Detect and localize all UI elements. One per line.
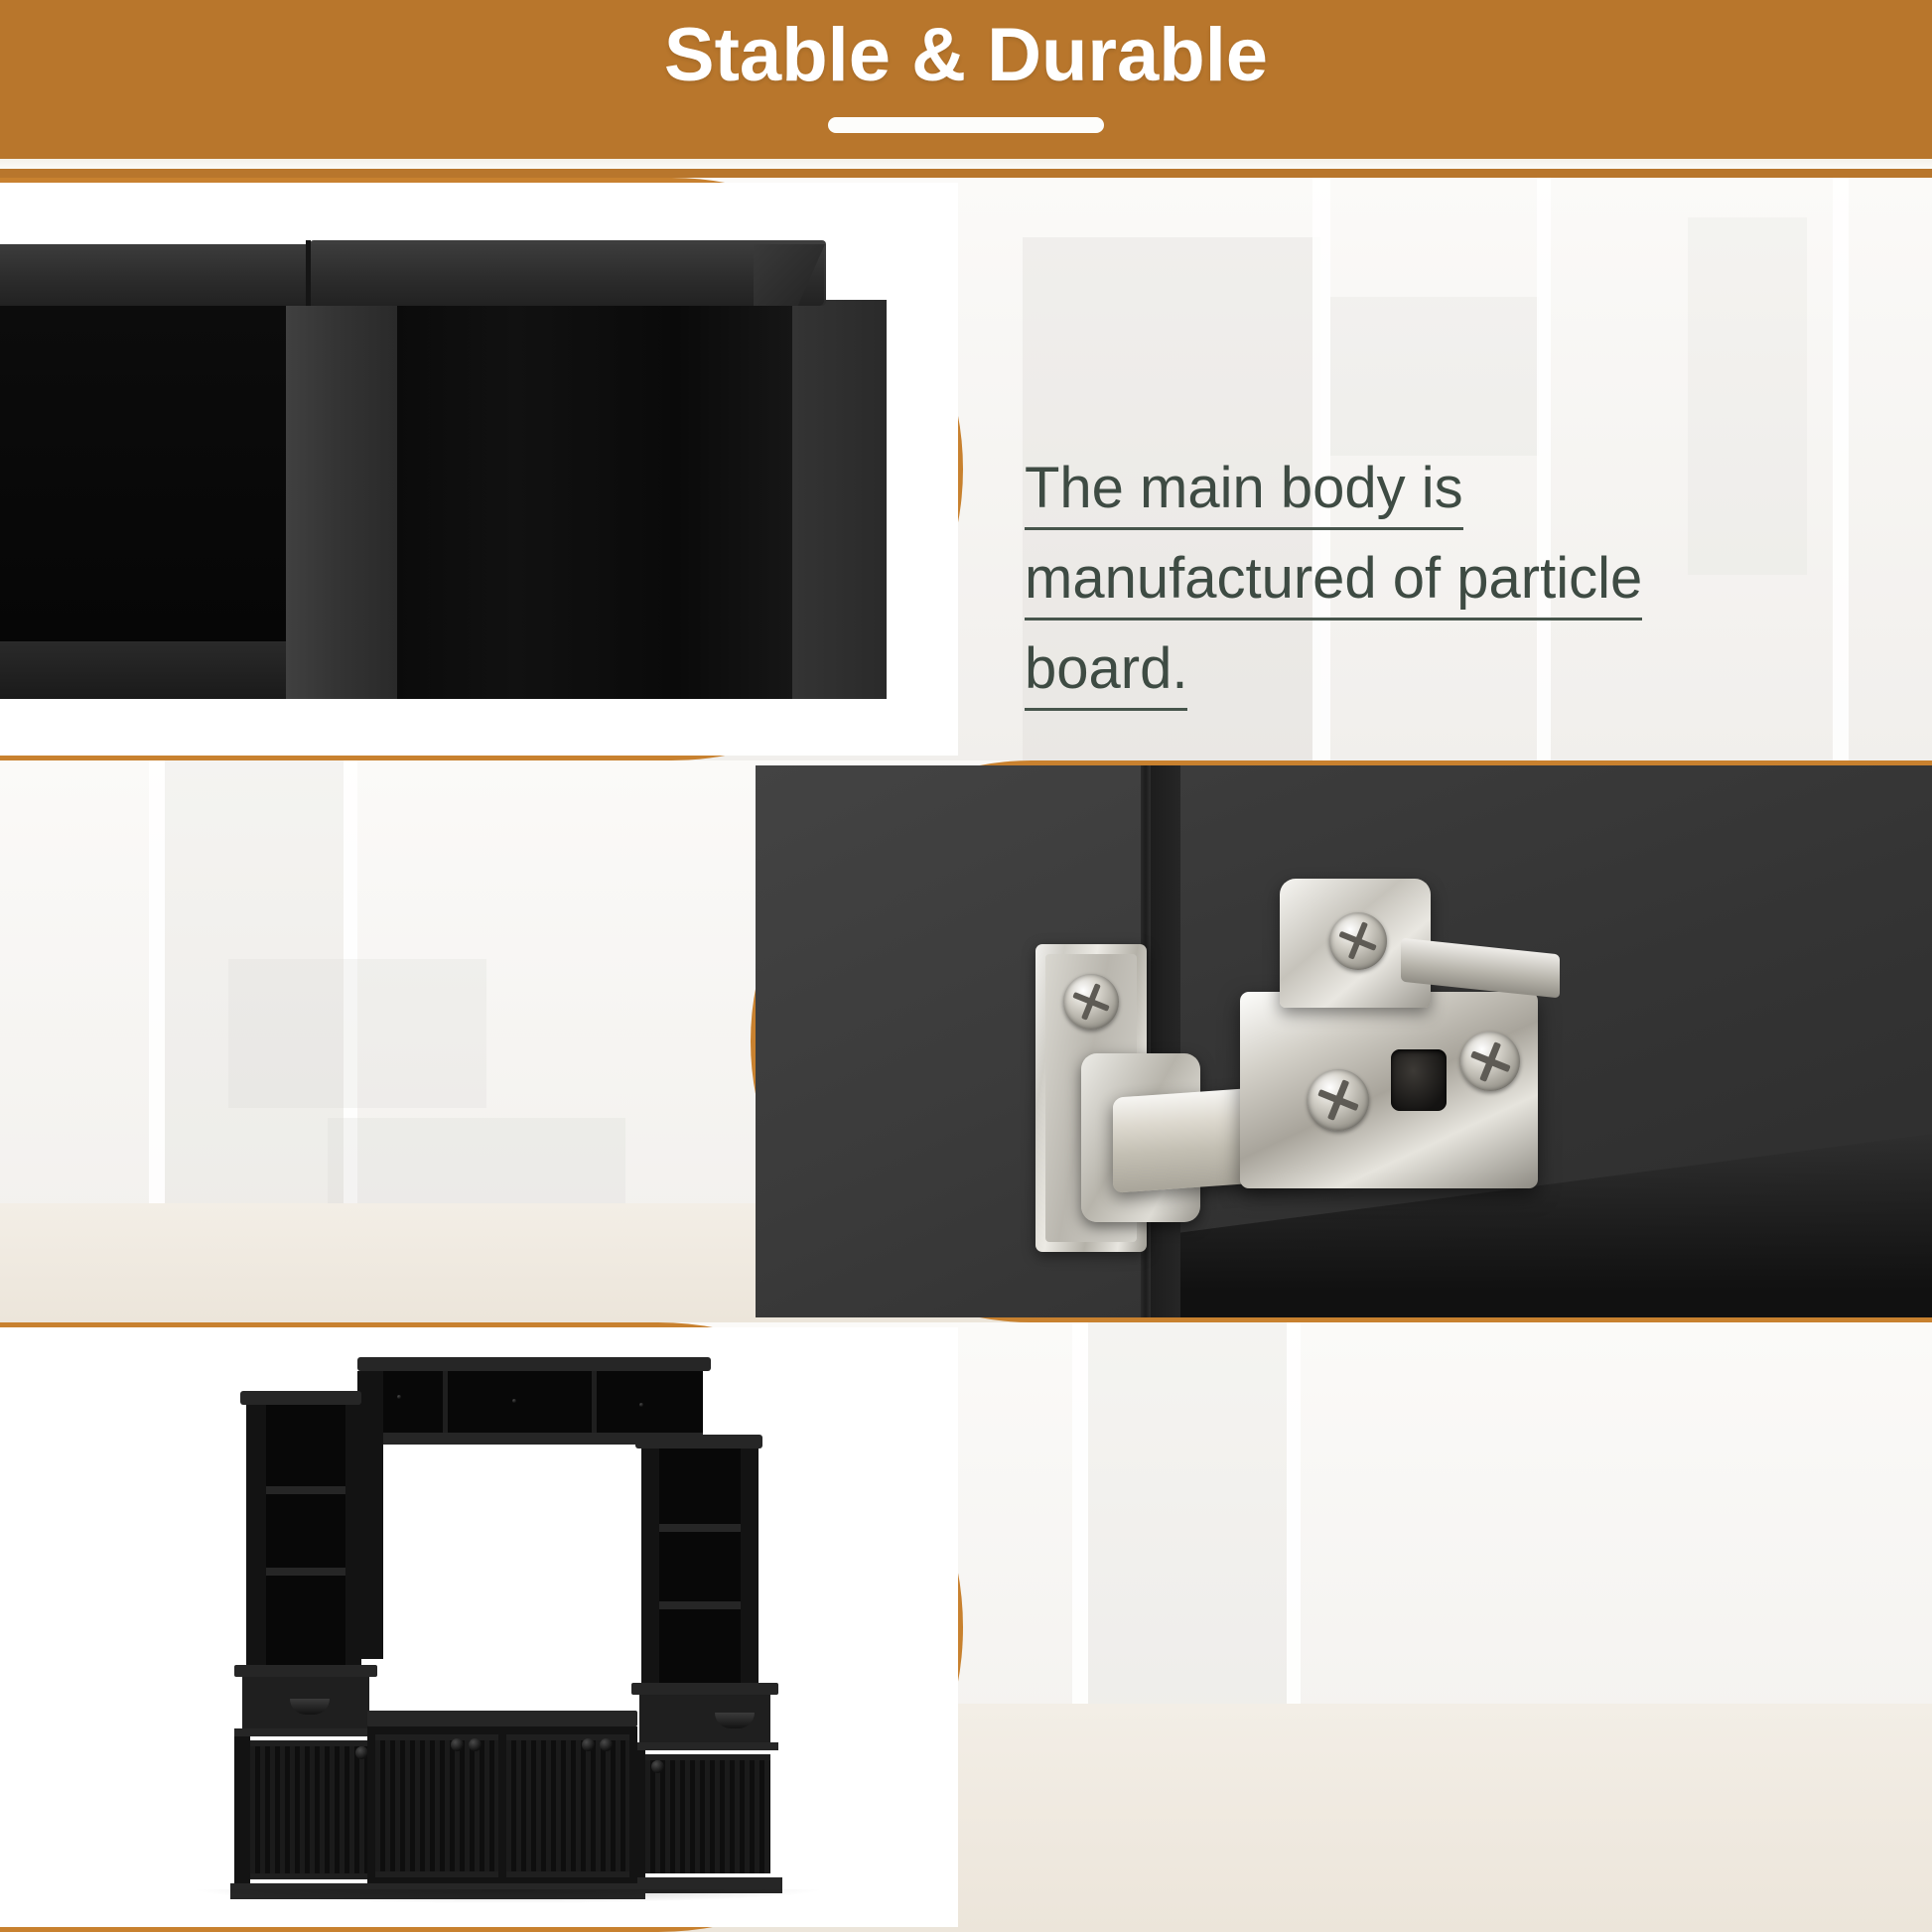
header-divider-line bbox=[0, 169, 1932, 178]
feature-panel-3: Sturdy anti-dumping device to increase t… bbox=[0, 1322, 1932, 1932]
header-gap bbox=[0, 159, 1932, 169]
panel-1-image-frame bbox=[0, 178, 963, 760]
cabinet-top-closeup-image bbox=[0, 183, 958, 756]
feature-panel-2: Good quality hardware accessories. bbox=[0, 760, 1932, 1322]
title-underline-bar bbox=[828, 117, 1104, 133]
page-header: Stable & Durable bbox=[0, 0, 1932, 159]
entertainment-center-unit bbox=[191, 1347, 806, 1913]
hinge-assembly bbox=[994, 865, 1550, 1282]
feature-panel-1: The main body is manufactured of particl… bbox=[0, 178, 1932, 760]
page-title: Stable & Durable bbox=[664, 18, 1268, 93]
panel-2-image-frame bbox=[751, 760, 1932, 1322]
screw-icon bbox=[1460, 1032, 1520, 1091]
panel-1-caption-line-3: board. bbox=[1025, 640, 1187, 711]
screw-icon bbox=[1308, 1069, 1369, 1131]
panel-1-caption: The main body is manufactured of particl… bbox=[1025, 460, 1642, 731]
adjustment-slot bbox=[1391, 1049, 1447, 1111]
screw-icon bbox=[1063, 974, 1119, 1030]
entertainment-center-product-image bbox=[0, 1327, 958, 1927]
screw-icon bbox=[1329, 912, 1387, 970]
panel-1-caption-line-1: The main body is bbox=[1025, 460, 1463, 530]
cabinet-hinge-closeup-image bbox=[756, 765, 1932, 1317]
panel-1-caption-line-2: manufactured of particle bbox=[1025, 550, 1642, 621]
panel-3-image-frame bbox=[0, 1322, 963, 1932]
